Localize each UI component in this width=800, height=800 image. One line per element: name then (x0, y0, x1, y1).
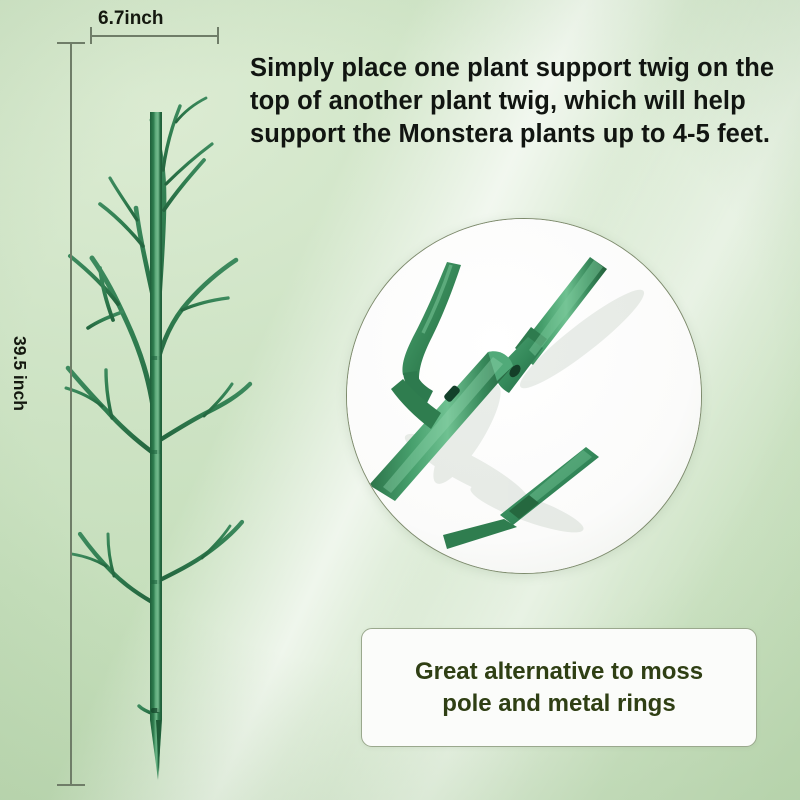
caption-box: Great alternative to moss pole and metal… (361, 628, 757, 747)
twig-main-stem (150, 112, 162, 780)
height-dimension-tick-top (57, 42, 85, 44)
headline-text: Simply place one plant support twig on t… (250, 52, 790, 151)
inset-photo-illustration (347, 219, 701, 573)
connection-detail-inset (346, 218, 702, 574)
caption-line-1: Great alternative to moss (415, 658, 703, 685)
width-dimension-tick-right (217, 27, 219, 44)
height-dimension-line (70, 42, 72, 785)
width-dimension-line (90, 35, 218, 37)
width-dimension-label: 6.7inch (98, 8, 163, 30)
width-dimension-tick-left (90, 27, 92, 44)
height-dimension-label: 39.5 inch (9, 336, 30, 411)
product-infographic: 6.7inch 39.5 inch Simply place one plant… (0, 0, 800, 800)
caption-line-2: pole and metal rings (442, 690, 675, 717)
caption-text: Great alternative to moss pole and metal… (401, 656, 717, 720)
height-dimension-tick-bottom (57, 784, 85, 786)
